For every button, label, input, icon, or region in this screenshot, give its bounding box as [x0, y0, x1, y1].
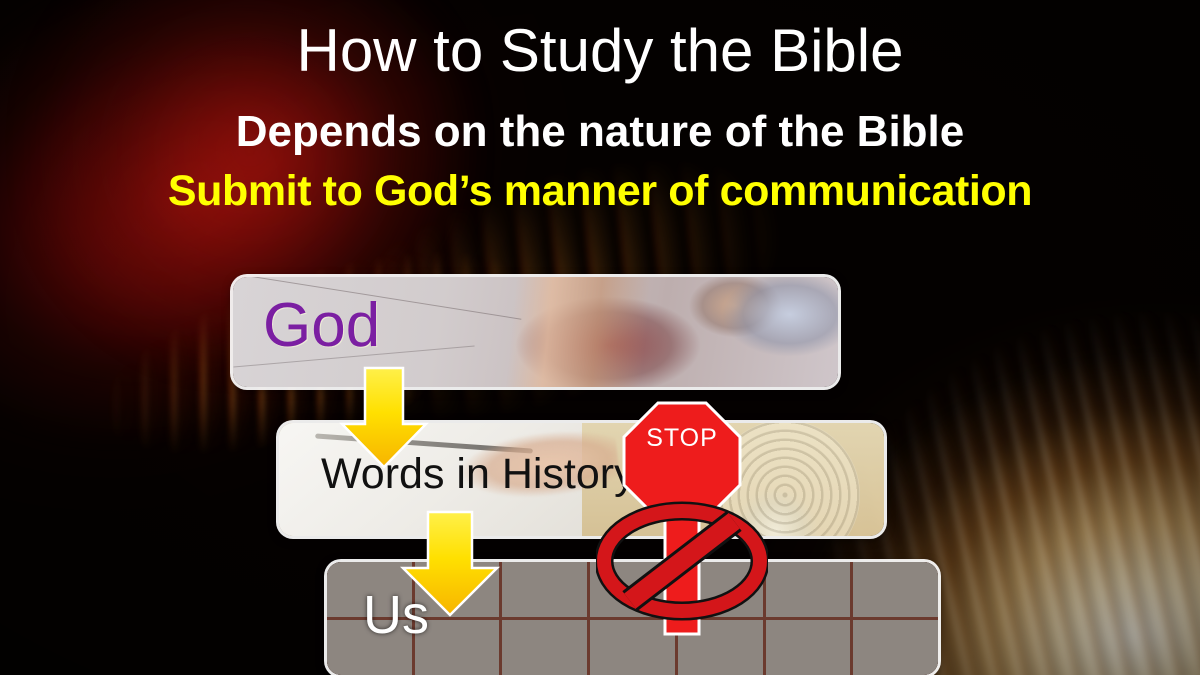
- subtitle-text: Depends on the nature of the Bible: [0, 81, 1200, 155]
- slide-canvas: How to Study the Bible Depends on the na…: [0, 0, 1200, 675]
- stop-marker-graphic: [596, 398, 768, 640]
- face-thumbnail: [853, 562, 938, 617]
- emphasis-text: Submit to God’s manner of communication: [0, 155, 1200, 214]
- face-thumbnail: [502, 620, 587, 675]
- diagram-box-god-label: God: [263, 295, 380, 357]
- face-thumbnail: [766, 620, 851, 675]
- down-arrow-icon: [396, 510, 504, 618]
- face-thumbnail: [502, 562, 587, 617]
- heading-block: How to Study the Bible Depends on the na…: [0, 0, 1200, 215]
- stop-marker-group[interactable]: STOP: [596, 398, 768, 640]
- face-thumbnail: [853, 620, 938, 675]
- page-title: How to Study the Bible: [0, 0, 1200, 81]
- diagram-box-god[interactable]: God: [233, 277, 838, 387]
- face-thumbnail: [766, 562, 851, 617]
- down-arrow-icon: [336, 366, 432, 470]
